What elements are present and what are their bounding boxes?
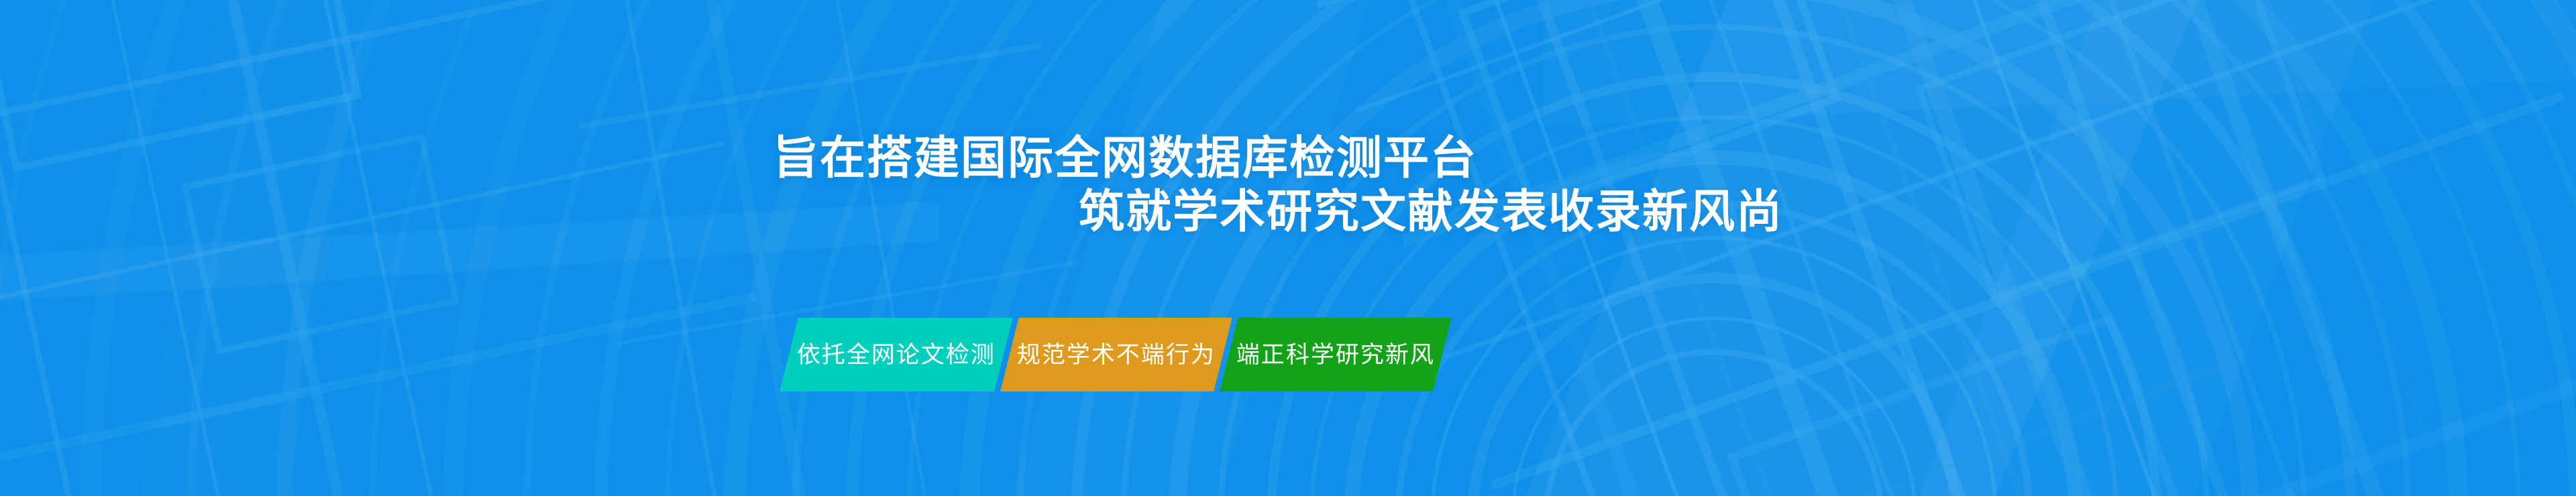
headline-block: 旨在搭建国际全网数据库检测平台 筑就学术研究文献发表收录新风尚 (0, 131, 2576, 239)
feature-tag-misconduct-label: 规范学术不端行为 (1017, 343, 1216, 367)
promo-banner: 旨在搭建国际全网数据库检测平台 筑就学术研究文献发表收录新风尚 依托全网论文检测… (0, 0, 2576, 496)
feature-tag-detection[interactable]: 依托全网论文检测 (780, 318, 1012, 391)
feature-tag-integrity-label: 端正科学研究新风 (1236, 343, 1435, 367)
headline-line-2: 筑就学术研究文献发表收录新风尚 (1079, 185, 2576, 239)
headline-line-1: 旨在搭建国际全网数据库检测平台 (773, 131, 2576, 185)
feature-tag-detection-label: 依托全网论文检测 (797, 343, 996, 367)
feature-tag-misconduct[interactable]: 规范学术不端行为 (1000, 318, 1232, 391)
feature-tag-integrity[interactable]: 端正科学研究新风 (1220, 318, 1451, 391)
banner-content: 旨在搭建国际全网数据库检测平台 筑就学术研究文献发表收录新风尚 依托全网论文检测… (0, 0, 2576, 496)
feature-tag-strip: 依托全网论文检测 规范学术不端行为 端正科学研究新风 (789, 318, 1442, 391)
